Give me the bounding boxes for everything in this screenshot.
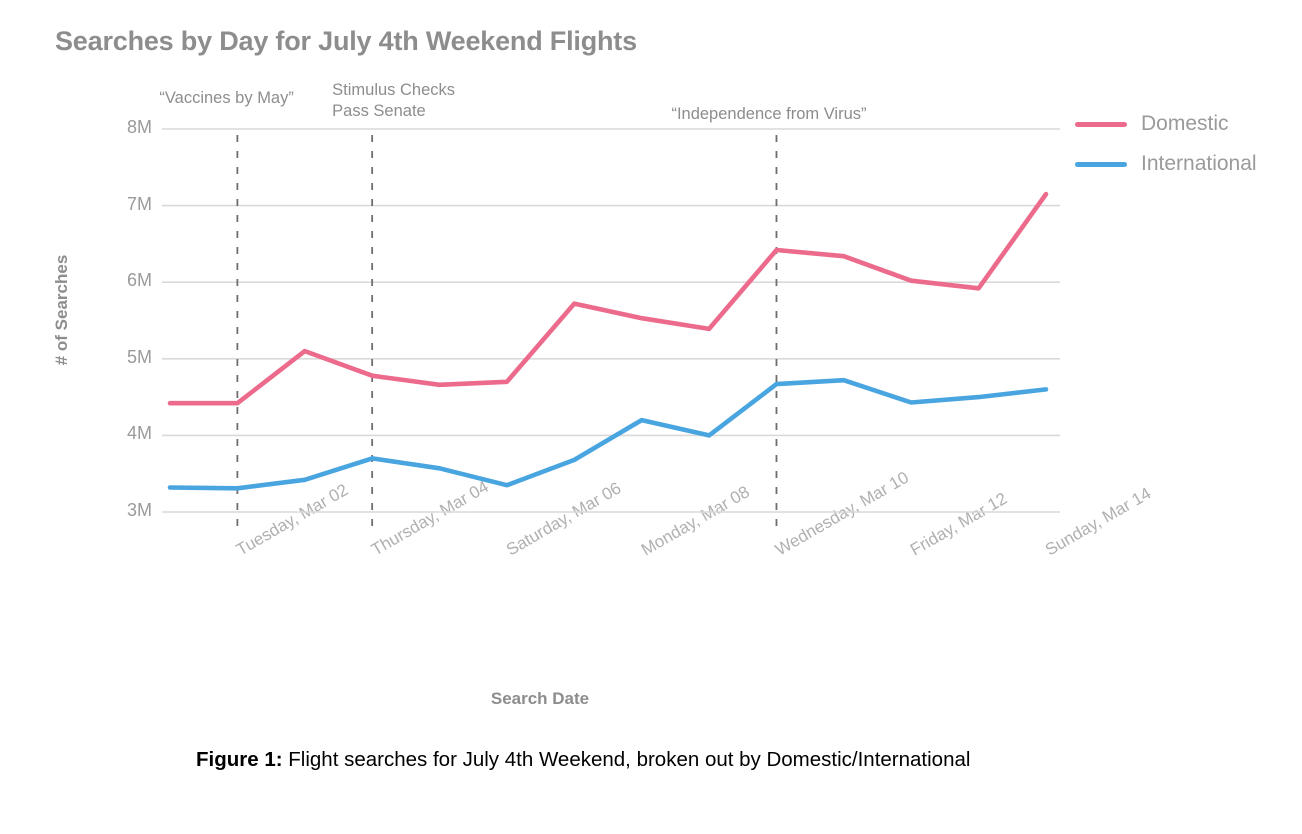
figure-container: Searches by Day for July 4th Weekend Fli… (0, 0, 1302, 834)
figure-caption: Figure 1: Flight searches for July 4th W… (196, 742, 1088, 778)
legend-swatch-international (1075, 162, 1127, 167)
legend-swatch-domestic (1075, 122, 1127, 127)
series-line-international[interactable] (170, 380, 1046, 488)
legend-item-domestic[interactable]: Domestic (1075, 108, 1257, 140)
legend-item-international[interactable]: International (1075, 148, 1257, 180)
series-line-domestic[interactable] (170, 194, 1046, 403)
legend-label-domestic: Domestic (1141, 112, 1229, 136)
chart-legend: Domestic International (1075, 108, 1257, 188)
figure-caption-text: Flight searches for July 4th Weekend, br… (283, 748, 971, 771)
legend-label-international: International (1141, 152, 1257, 176)
figure-caption-label: Figure 1: (196, 748, 283, 771)
